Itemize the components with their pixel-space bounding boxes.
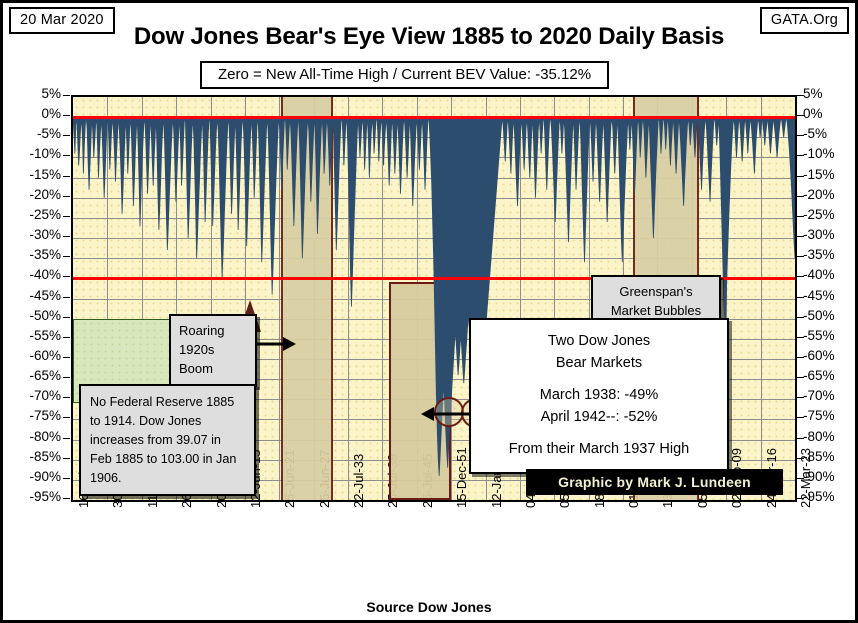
y-tick-label: -95% [3, 489, 61, 504]
y-tick-label: -65% [3, 368, 61, 383]
y-tick-mark [63, 236, 70, 237]
y-tick-label: -55% [803, 328, 858, 343]
subtitle-box: Zero = New All-Time High / Current BEV V… [200, 61, 609, 89]
y-tick-label: -50% [3, 308, 61, 323]
y-tick-mark [63, 297, 70, 298]
reference-line-0 [73, 116, 795, 119]
y-tick-mark [63, 458, 70, 459]
page-title: Dow Jones Bear's Eye View 1885 to 2020 D… [3, 23, 855, 51]
bear-line-4: April 1942--: -52% [481, 406, 717, 428]
bear-line-1: Two Dow Jones [481, 330, 717, 352]
y-tick-label: -75% [803, 408, 858, 423]
roaring-text: Roaring 1920s Boom [179, 323, 225, 376]
y-tick-label: -5% [803, 126, 858, 141]
y-tick-label: -70% [803, 388, 858, 403]
y-tick-mark [63, 317, 70, 318]
y-tick-label: -55% [3, 328, 61, 343]
y-tick-mark [797, 236, 804, 237]
y-tick-label: -10% [803, 146, 858, 161]
y-tick-mark [797, 95, 804, 96]
y-tick-mark [797, 297, 804, 298]
chart-page: 20 Mar 2020 GATA.Org Dow Jones Bear's Ey… [0, 0, 858, 623]
y-tick-mark [63, 498, 70, 499]
bear-line-5: From their March 1937 High [481, 438, 717, 460]
no-fed-text: No Federal Reserve 1885 to 1914. Dow Jon… [90, 395, 236, 485]
y-tick-label: 0% [3, 106, 61, 121]
y-tick-label: -50% [803, 308, 858, 323]
y-tick-label: -35% [803, 247, 858, 262]
y-tick-label: -60% [803, 348, 858, 363]
y-tick-mark [63, 256, 70, 257]
y-tick-mark [797, 256, 804, 257]
y-tick-mark [63, 115, 70, 116]
y-tick-label: -20% [3, 187, 61, 202]
y-tick-mark [797, 337, 804, 338]
y-tick-mark [63, 196, 70, 197]
y-tick-label: 5% [803, 86, 858, 101]
y-tick-label: -80% [3, 429, 61, 444]
y-tick-mark [63, 176, 70, 177]
y-tick-label: -90% [3, 469, 61, 484]
y-tick-label: -75% [3, 408, 61, 423]
y-tick-mark [797, 438, 804, 439]
x-axis-label: Source Dow Jones [3, 599, 855, 615]
y-tick-label: -25% [3, 207, 61, 222]
y-tick-label: -15% [803, 167, 858, 182]
y-tick-mark [797, 115, 804, 116]
y-tick-mark [63, 417, 70, 418]
y-tick-mark [797, 377, 804, 378]
y-tick-label: -85% [3, 449, 61, 464]
y-tick-mark [63, 276, 70, 277]
spacer [481, 375, 717, 384]
y-tick-mark [797, 276, 804, 277]
y-tick-mark [63, 397, 70, 398]
y-tick-label: 5% [3, 86, 61, 101]
y-tick-label: -5% [3, 126, 61, 141]
y-tick-label: -30% [3, 227, 61, 242]
y-tick-mark [797, 357, 804, 358]
y-tick-label: -65% [803, 368, 858, 383]
spacer [481, 429, 717, 438]
y-tick-mark [63, 357, 70, 358]
y-tick-label: -60% [3, 348, 61, 363]
y-tick-label: -25% [803, 207, 858, 222]
y-tick-mark [797, 216, 804, 217]
y-tick-label: -80% [803, 429, 858, 444]
credit-badge: Graphic by Mark J. Lundeen [526, 469, 783, 495]
y-tick-mark [63, 155, 70, 156]
y-tick-label: -45% [3, 288, 61, 303]
y-tick-mark [797, 317, 804, 318]
y-tick-label: -30% [803, 227, 858, 242]
y-tick-mark [63, 135, 70, 136]
bear-line-2: Bear Markets [481, 352, 717, 374]
y-tick-mark [63, 337, 70, 338]
annotation-no-federal-reserve: No Federal Reserve 1885 to 1914. Dow Jon… [79, 384, 256, 496]
y-tick-mark [63, 95, 70, 96]
annotation-two-bear-markets: Two Dow Jones Bear Markets March 1938: -… [469, 318, 729, 474]
y-tick-label: -40% [3, 267, 61, 282]
annotation-roaring-1920s: Roaring 1920s Boom [169, 314, 257, 387]
y-tick-label: -70% [3, 388, 61, 403]
y-tick-mark [797, 417, 804, 418]
y-tick-mark [63, 438, 70, 439]
y-tick-mark [797, 176, 804, 177]
y-tick-mark [797, 397, 804, 398]
y-tick-mark [797, 135, 804, 136]
y-tick-mark [797, 155, 804, 156]
y-tick-label: -10% [3, 146, 61, 161]
x-tick-label: 22-Mar-23 [798, 448, 813, 508]
y-tick-label: -15% [3, 167, 61, 182]
y-tick-label: -40% [803, 267, 858, 282]
greenspan-line-1: Greenspan's [601, 283, 711, 302]
bear-line-3: March 1938: -49% [481, 384, 717, 406]
y-tick-label: 0% [803, 106, 858, 121]
y-tick-label: -35% [3, 247, 61, 262]
y-tick-label: -20% [803, 187, 858, 202]
y-tick-mark [63, 216, 70, 217]
y-tick-label: -45% [803, 288, 858, 303]
y-tick-mark [63, 377, 70, 378]
y-tick-mark [797, 196, 804, 197]
y-tick-mark [63, 478, 70, 479]
